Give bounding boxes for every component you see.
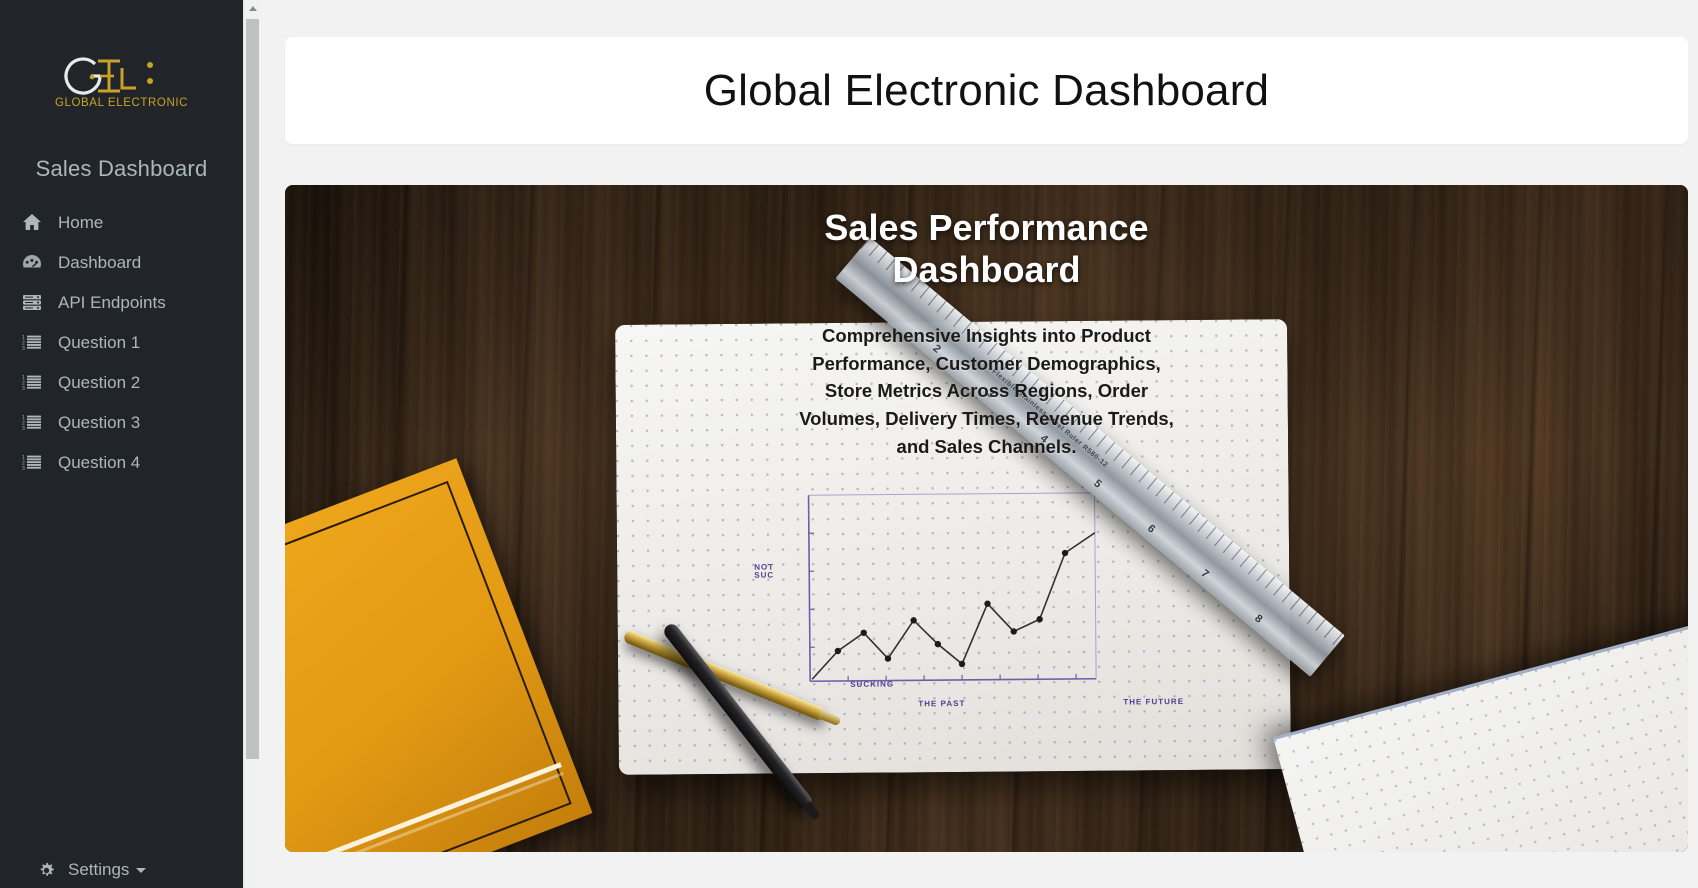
brand-logo[interactable]: GLOBAL ELECTRONIC bbox=[0, 0, 243, 150]
notebook-label-the-future: THE FUTURE bbox=[1123, 697, 1184, 707]
tachometer-icon bbox=[22, 252, 48, 272]
scrollbar-thumb[interactable] bbox=[246, 19, 259, 759]
settings-dropdown[interactable]: Settings bbox=[38, 860, 243, 880]
sidebar-footer: Settings bbox=[0, 860, 243, 880]
sidebar-item-question-4[interactable]: 1 2 3 Question 4 bbox=[0, 442, 243, 482]
gear-icon bbox=[38, 860, 60, 880]
svg-text:3: 3 bbox=[22, 346, 25, 351]
list-ol-icon: 1 2 3 bbox=[22, 412, 48, 432]
global-electronic-logo-icon bbox=[62, 51, 182, 101]
list-ol-icon: 1 2 3 bbox=[22, 372, 48, 392]
list-ol-icon: 1 2 3 bbox=[22, 332, 48, 352]
ruler-number: 7 bbox=[1199, 567, 1211, 580]
sidebar-item-label: Dashboard bbox=[58, 254, 141, 271]
notebook-label-the-past: THE PAST bbox=[918, 699, 965, 708]
sidebar-item-label: Question 3 bbox=[58, 414, 140, 431]
sidebar-item-question-2[interactable]: 1 2 3 Question 2 bbox=[0, 362, 243, 402]
sidebar-item-label: Question 2 bbox=[58, 374, 140, 391]
page-header-card: Global Electronic Dashboard bbox=[285, 37, 1688, 144]
ruler-number: 8 bbox=[1252, 612, 1264, 625]
sidebar-item-label: Question 4 bbox=[58, 454, 140, 471]
sidebar-nav: Home Dashboard bbox=[0, 202, 243, 482]
home-icon bbox=[22, 212, 48, 232]
ruler-number: 5 bbox=[1091, 477, 1103, 490]
app-root: GLOBAL ELECTRONIC Sales Dashboard Home bbox=[0, 0, 1698, 888]
svg-text:3: 3 bbox=[22, 426, 25, 431]
svg-text:3: 3 bbox=[22, 386, 25, 391]
hero-banner: WEEKLY PLANNER NOTSUC SUCKING THE PAST T… bbox=[285, 185, 1688, 852]
page-scrollbar[interactable] bbox=[243, 0, 260, 888]
server-icon bbox=[22, 292, 48, 312]
chevron-down-icon bbox=[136, 868, 146, 873]
sidebar-item-question-3[interactable]: 1 2 3 Question 3 bbox=[0, 402, 243, 442]
sidebar-title: Sales Dashboard bbox=[0, 150, 243, 202]
main-content: Global Electronic Dashboard WEEKLY PLANN… bbox=[260, 0, 1698, 888]
hero-title: Sales Performance Dashboard bbox=[772, 207, 1202, 292]
hero-text-overlay: Sales Performance Dashboard Comprehensiv… bbox=[285, 185, 1688, 461]
notebook-label-not-sucking: NOTSUC bbox=[754, 564, 774, 581]
page-title: Global Electronic Dashboard bbox=[704, 69, 1269, 113]
sidebar-item-home[interactable]: Home bbox=[0, 202, 243, 242]
sidebar-item-dashboard[interactable]: Dashboard bbox=[0, 242, 243, 282]
scroll-up-icon[interactable] bbox=[244, 0, 261, 17]
hand-drawn-line-chart bbox=[807, 491, 1099, 684]
sidebar-item-question-1[interactable]: 1 2 3 Question 1 bbox=[0, 322, 243, 362]
settings-label: Settings bbox=[68, 860, 129, 880]
sidebar-item-label: Home bbox=[58, 214, 103, 231]
sidebar-item-label: Question 1 bbox=[58, 334, 140, 351]
ruler-number: 6 bbox=[1145, 522, 1157, 535]
sidebar-item-label: API Endpoints bbox=[58, 294, 166, 311]
sidebar-item-api-endpoints[interactable]: API Endpoints bbox=[0, 282, 243, 322]
svg-text:3: 3 bbox=[22, 466, 25, 471]
list-ol-icon: 1 2 3 bbox=[22, 452, 48, 472]
sidebar: GLOBAL ELECTRONIC Sales Dashboard Home bbox=[0, 0, 243, 888]
hero-subtitle: Comprehensive Insights into Product Perf… bbox=[787, 322, 1187, 461]
